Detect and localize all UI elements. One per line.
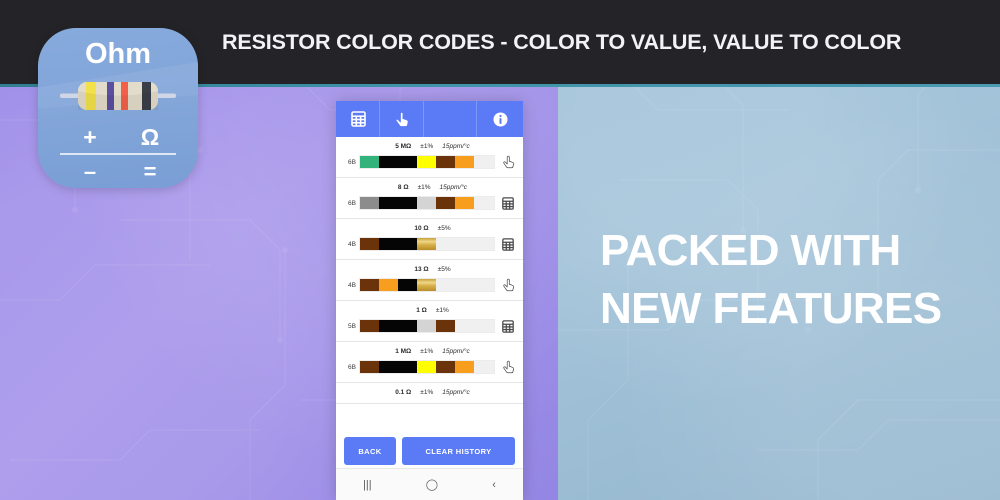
row-values: 5 MΩ±1%15ppm/°c [336,143,523,150]
color-band [417,361,436,373]
tolerance-value: ±1% [420,143,433,150]
tolerance-value: ±1% [420,389,433,396]
color-band [417,279,436,291]
row-body: 6B [336,195,523,211]
app-toolbar [336,101,523,137]
row-values: 8 Ω±1%15ppm/°c [336,184,523,191]
promo-line-2: NEW FEATURES [600,280,980,338]
color-band [379,320,398,332]
resistor-band-strip [359,196,495,210]
color-band [417,320,436,332]
color-band [436,320,455,332]
color-band [436,156,455,168]
back-button[interactable]: BACK [344,437,396,465]
row-action-button[interactable] [499,154,517,170]
color-band [436,238,455,250]
calculator-icon [502,197,514,210]
resistor-band-strip [359,360,495,374]
band-count-label: 6B [342,364,356,371]
band-count-label: 6B [342,159,356,166]
promo-line-1: PACKED WITH [600,222,980,280]
app-icon: Ohm + Ω – = [38,28,198,188]
clear-history-button[interactable]: CLEAR HISTORY [402,437,515,465]
row-action-button[interactable] [499,236,517,252]
row-values: 0.1 Ω±1%15ppm/°c [336,389,523,396]
row-action-button[interactable] [499,359,517,375]
color-band [398,361,417,373]
color-band [398,279,417,291]
color-band [455,279,474,291]
calculator-icon [502,320,514,333]
resistor-graphic [60,78,176,114]
band-count-label: 5B [342,323,356,330]
tempco-value: 15ppm/°c [442,389,470,396]
row-body: 4B [336,277,523,293]
tolerance-value: ±1% [418,184,431,191]
tolerance-value: ±1% [420,348,433,355]
resistor-band-strip [359,278,495,292]
calculator-icon [502,238,514,251]
tolerance-value: ±5% [438,266,451,273]
color-band [417,156,436,168]
color-band [455,320,474,332]
history-row[interactable]: 13 Ω±5%4B [336,260,523,301]
row-body: 5B [336,318,523,334]
ohm-icon: Ω [130,124,170,151]
android-navigation-bar: ||| ◯ ‹ [336,468,523,500]
plus-icon: + [70,124,110,151]
resistance-value: 0.1 Ω [395,389,411,396]
tolerance-value: ±1% [436,307,449,314]
color-band [417,238,436,250]
pointing-hand-icon [502,155,515,169]
home-icon[interactable]: ◯ [426,478,438,491]
tab-calculator[interactable] [336,101,380,137]
history-row[interactable]: 5 MΩ±1%15ppm/°c6B [336,137,523,178]
minus-icon: – [70,159,110,185]
color-band [360,156,379,168]
history-row[interactable]: 8 Ω±1%15ppm/°c6B [336,178,523,219]
row-values: 1 Ω±1% [336,307,523,314]
action-button-bar: BACK CLEAR HISTORY [336,433,523,469]
pointing-hand-icon [394,111,410,128]
color-band [360,279,379,291]
color-band [455,197,474,209]
row-action-button[interactable] [499,318,517,334]
color-band [379,197,398,209]
history-row[interactable]: 0.1 Ω±1%15ppm/°c [336,383,523,404]
resistance-value: 10 Ω [414,225,428,232]
color-band [398,197,417,209]
row-values: 1 MΩ±1%15ppm/°c [336,348,523,355]
resistor-band-strip [359,237,495,251]
color-band [417,197,436,209]
info-button[interactable] [477,101,523,137]
app-icon-label: Ohm [38,38,198,71]
promo-text: PACKED WITH NEW FEATURES [600,222,980,338]
history-list[interactable]: 5 MΩ±1%15ppm/°c6B8 Ω±1%15ppm/°c6B10 Ω±5%… [336,137,523,459]
color-band [360,197,379,209]
color-band [360,361,379,373]
page-title: RESISTOR COLOR CODES - COLOR TO VALUE, V… [222,30,982,55]
color-band [455,361,474,373]
row-body: 6B [336,359,523,375]
tempco-value: 15ppm/°c [442,143,470,150]
color-band [436,361,455,373]
band-count-label: 6B [342,200,356,207]
tempco-value: 15ppm/°c [440,184,468,191]
resistor-band-strip [359,319,495,333]
app-icon-divider [60,153,176,155]
equals-icon: = [130,159,170,185]
color-band [455,156,474,168]
tab-touch[interactable] [380,101,424,137]
back-icon[interactable]: ‹ [492,479,496,491]
row-action-button[interactable] [499,277,517,293]
tolerance-value: ±5% [438,225,451,232]
row-values: 10 Ω±5% [336,225,523,232]
row-action-button[interactable] [499,195,517,211]
row-values: 13 Ω±5% [336,266,523,273]
color-band [436,279,455,291]
resistor-band-strip [359,155,495,169]
history-row[interactable]: 10 Ω±5%4B [336,219,523,260]
resistance-value: 13 Ω [414,266,428,273]
pointing-hand-icon [502,278,515,292]
recents-icon[interactable]: ||| [363,479,372,491]
pointing-hand-icon [502,360,515,374]
phone-screenshot: 5 MΩ±1%15ppm/°c6B8 Ω±1%15ppm/°c6B10 Ω±5%… [336,101,523,500]
color-band [398,320,417,332]
resistance-value: 1 Ω [416,307,427,314]
history-row[interactable]: 1 Ω±1%5B [336,301,523,342]
row-body: 4B [336,236,523,252]
color-band [379,156,398,168]
color-band [379,279,398,291]
color-band [379,238,398,250]
color-band [360,320,379,332]
tempco-value: 15ppm/°c [442,348,470,355]
history-row[interactable]: 1 MΩ±1%15ppm/°c6B [336,342,523,383]
color-band [379,361,398,373]
resistance-value: 8 Ω [398,184,409,191]
info-icon [493,112,508,127]
resistance-value: 5 MΩ [395,143,411,150]
color-band [436,197,455,209]
calculator-icon [351,111,366,127]
toolbar-spacer [424,101,477,137]
color-band [360,238,379,250]
color-band [398,156,417,168]
color-band [398,238,417,250]
color-band [455,238,474,250]
band-count-label: 4B [342,241,356,248]
resistance-value: 1 MΩ [395,348,411,355]
row-body: 6B [336,154,523,170]
band-count-label: 4B [342,282,356,289]
